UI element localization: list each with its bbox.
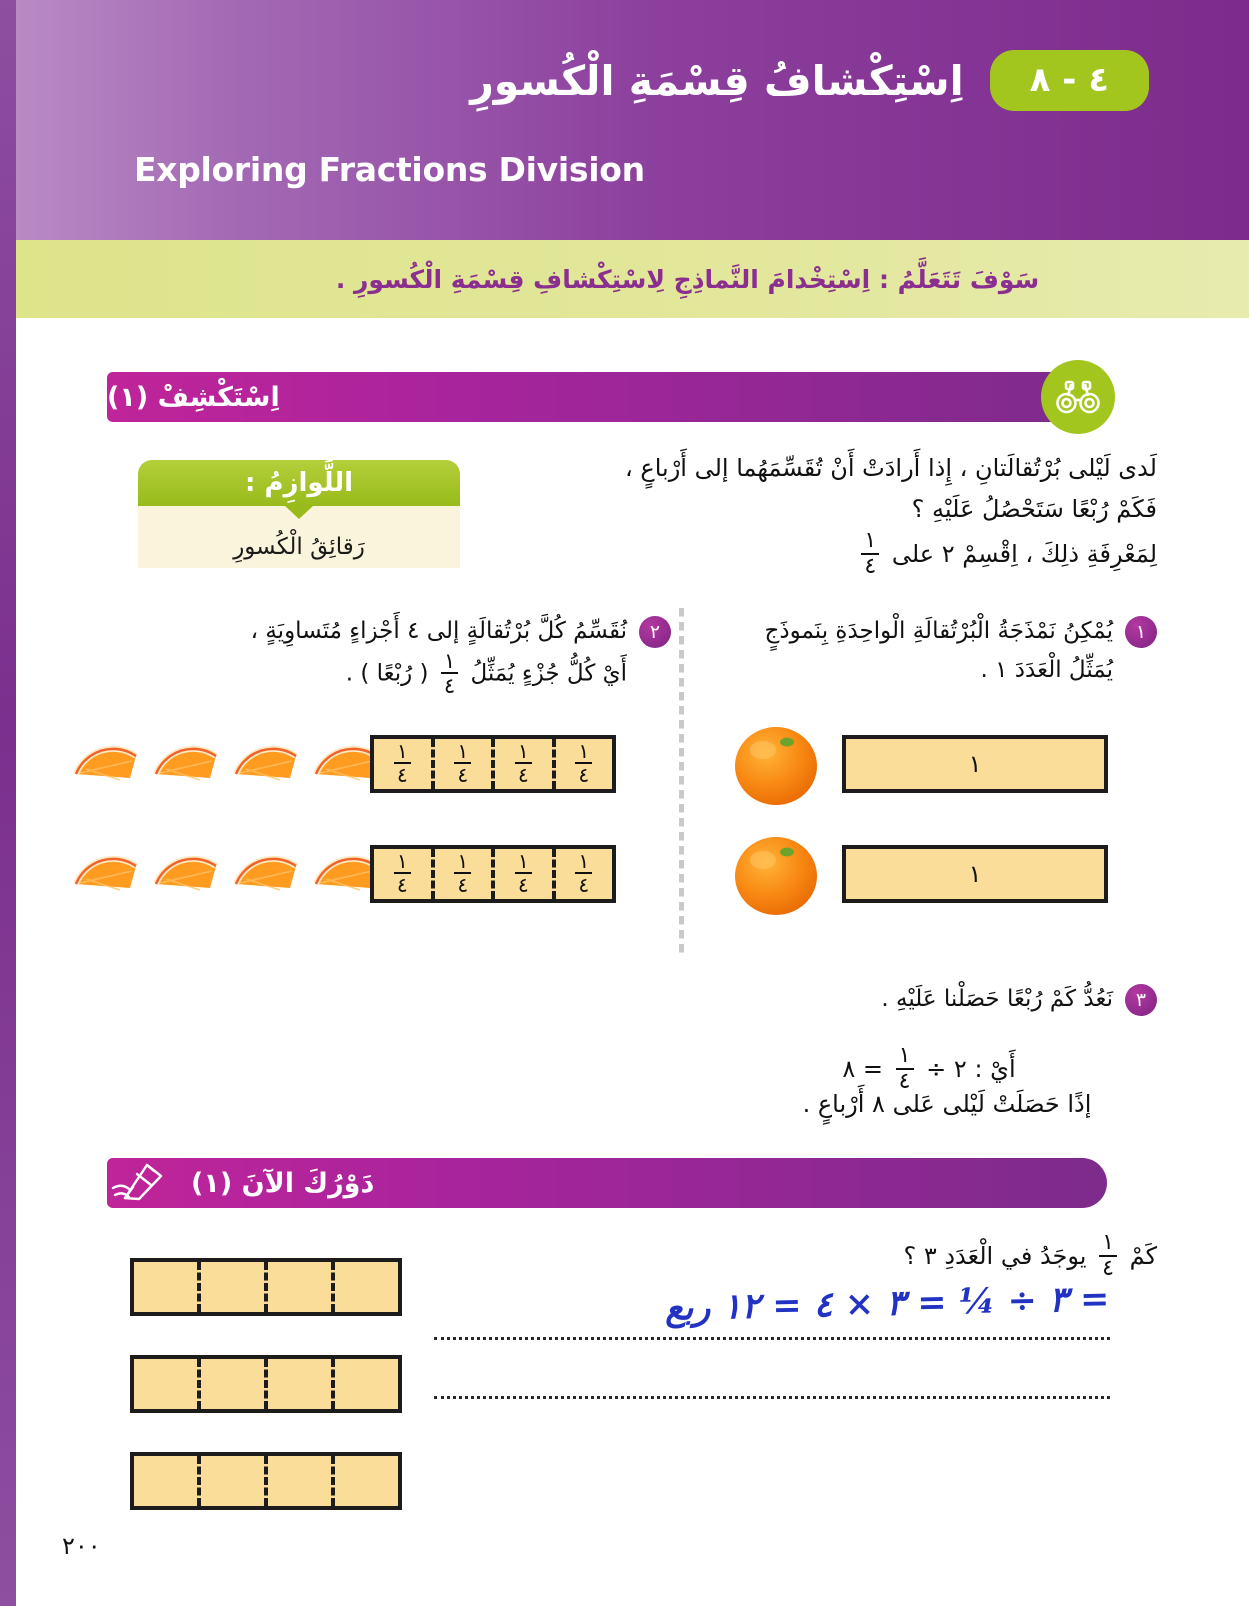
lesson-number-badge: ٤ - ٨ [990, 50, 1149, 111]
orange-fruit-icon [730, 718, 822, 810]
orange-slice-row-1 [70, 728, 382, 790]
step-2-text-part2-prefix: أَيْ كُلُّ جُزْءٍ يُمَثِّلُ [471, 661, 627, 687]
step-1: ١ يُمْكِنُ نَمْذَجَةُ الْبُرْتُقالَةِ ال… [727, 612, 1157, 690]
fraction-cell: ١ ٤ [491, 739, 552, 789]
equation-divide-sign: ÷ [926, 1055, 946, 1083]
orange-slice-icon [150, 838, 222, 900]
answer-fraction-strip-1[interactable] [130, 1258, 402, 1316]
conclusion-text: إذًا حَصَلَتْ لَيْلى عَلى ٨ أَرْباعٍ . [737, 1090, 1157, 1118]
orange-slice-row-2 [70, 838, 382, 900]
cell-fraction: ١ ٤ [515, 851, 532, 895]
fraction-cell: ١ ٤ [374, 739, 431, 789]
problem-fraction-one-fourth: ١ ٤ [861, 530, 879, 578]
objective-text: سَوْفَ تَتَعَلَّمُ : اِسْتِخْدامَ النَّم… [226, 265, 1039, 294]
problem-line-2: فَكَمْ رُبْعًا سَتَحْصُلُ عَلَيْهِ ؟ [577, 489, 1157, 530]
whole-value-box-2: ١ [842, 845, 1108, 903]
empty-fraction-cell[interactable] [264, 1456, 331, 1506]
answer-fraction-strip-2[interactable] [130, 1355, 402, 1413]
division-equation: أَيْ : ٢ ÷ ١ ٤ = ٨ [737, 1046, 1157, 1094]
empty-fraction-cell[interactable] [264, 1262, 331, 1312]
step-3-text: نَعُدُّ كَمْ رُبْعًا حَصَلْنا عَلَيْهِ . [881, 980, 1113, 1019]
handwritten-answer[interactable]: = ٣ ÷ ¼ = ٣ × ٤ = ١٢ ربع [664, 1278, 1109, 1328]
explore-section-banner: اِسْتَكْشِفْ (١) [107, 372, 1107, 422]
fraction-strip-1: ١ ٤ ١ ٤ ١ ٤ ١ ٤ [370, 735, 616, 793]
step-1-badge: ١ [1125, 616, 1157, 648]
answer-line-1[interactable] [434, 1337, 1110, 1340]
explore-banner-label: اِسْتَكْشِفْ (١) [107, 382, 280, 413]
objective-band: سَوْفَ تَتَعَلَّمُ : اِسْتِخْدامَ النَّم… [16, 240, 1249, 318]
materials-notch [284, 505, 314, 519]
orange-slice-icon [70, 838, 142, 900]
equation-dividend: ٢ [954, 1055, 967, 1083]
orange-fruit-icon [730, 828, 822, 920]
lesson-title-english: Exploring Fractions Division [16, 150, 1249, 189]
question-fraction-one-fourth: ١ ٤ [1099, 1232, 1117, 1280]
orange-slice-icon [230, 838, 302, 900]
writing-hand-icon [107, 1162, 169, 1204]
question-suffix: يوجَدُ في الْعَدَدِ ٣ ؟ [903, 1242, 1086, 1270]
your-turn-banner-label: دَوْرُكَ الآنَ (١) [191, 1168, 374, 1199]
orange-slice-icon [70, 728, 142, 790]
fraction-cell: ١ ٤ [431, 849, 492, 899]
question-prefix: كَمْ [1130, 1242, 1157, 1270]
step-2-text-part2-suffix: ( رُبْعًا ) . [346, 661, 429, 687]
cell-fraction: ١ ٤ [515, 741, 532, 785]
step-2: ٢ نُقَسِّمُ كُلَّ بُرْتُقالَةٍ إلى ٤ أَج… [211, 612, 671, 697]
empty-fraction-cell[interactable] [134, 1456, 197, 1506]
step-2-text: نُقَسِّمُ كُلَّ بُرْتُقالَةٍ إلى ٤ أَجْز… [251, 612, 627, 697]
page-number: ٢٠٠ [62, 1532, 101, 1560]
equation-prefix: أَيْ : [974, 1055, 1015, 1083]
empty-fraction-cell[interactable] [134, 1359, 197, 1409]
empty-fraction-cell[interactable] [331, 1456, 398, 1506]
fraction-strip-2: ١ ٤ ١ ٤ ١ ٤ ١ ٤ [370, 845, 616, 903]
orange-slice-icon [230, 728, 302, 790]
cell-fraction: ١ ٤ [575, 851, 592, 895]
empty-fraction-cell[interactable] [197, 1456, 264, 1506]
lesson-title-arabic: اِسْتِكْشافُ قِسْمَةِ الْكُسورِ [470, 57, 963, 105]
cell-fraction: ١ ٤ [454, 851, 471, 895]
step-2-badge: ٢ [639, 616, 671, 648]
cell-fraction: ١ ٤ [394, 851, 411, 895]
column-divider [679, 608, 684, 953]
materials-box: اللَّوازِمُ : رَقائِقُ الْكُسورِ [138, 460, 460, 568]
your-turn-question: كَمْ ١ ٤ يوجَدُ في الْعَدَدِ ٣ ؟ [903, 1233, 1157, 1281]
answer-line-2[interactable] [434, 1396, 1110, 1399]
fraction-cell: ١ ٤ [552, 849, 613, 899]
step-3: ٣ نَعُدُّ كَمْ رُبْعًا حَصَلْنا عَلَيْهِ… [737, 980, 1157, 1019]
empty-fraction-cell[interactable] [331, 1359, 398, 1409]
empty-fraction-cell[interactable] [264, 1359, 331, 1409]
cell-fraction: ١ ٤ [575, 741, 592, 785]
empty-fraction-cell[interactable] [331, 1262, 398, 1312]
orange-slice-icon [150, 728, 222, 790]
problem-line-3: لِمَعْرِفَةِ ذلِكَ ، اِقْسِمْ ٢ على ١ ٤ [577, 531, 1157, 579]
step-1-text: يُمْكِنُ نَمْذَجَةُ الْبُرْتُقالَةِ الْو… [727, 612, 1113, 690]
binoculars-icon [1041, 360, 1115, 434]
fraction-cell: ١ ٤ [552, 739, 613, 789]
whole-value-box-1: ١ [842, 735, 1108, 793]
answer-fraction-strip-3[interactable] [130, 1452, 402, 1510]
problem-statement: لَدى لَيْلى بُرْتُقالَتانِ ، إِذا أَرادَ… [577, 448, 1157, 579]
step-2-fraction-one-fourth: ١ ٤ [441, 650, 458, 696]
equation-result: ٨ [842, 1055, 855, 1083]
lesson-header: ٤ - ٨ اِسْتِكْشافُ قِسْمَةِ الْكُسورِ Ex… [16, 0, 1249, 240]
cell-fraction: ١ ٤ [394, 741, 411, 785]
empty-fraction-cell[interactable] [134, 1262, 197, 1312]
empty-fraction-cell[interactable] [197, 1262, 264, 1312]
page-spine [0, 0, 16, 1606]
materials-heading-label: اللَّوازِمُ : [245, 468, 353, 498]
fraction-cell: ١ ٤ [374, 849, 431, 899]
lesson-title-row: ٤ - ٨ اِسْتِكْشافُ قِسْمَةِ الْكُسورِ [16, 50, 1249, 111]
fraction-cell: ١ ٤ [431, 739, 492, 789]
empty-fraction-cell[interactable] [197, 1359, 264, 1409]
problem-line-3-text: لِمَعْرِفَةِ ذلِكَ ، اِقْسِمْ ٢ على [892, 540, 1157, 568]
problem-line-1: لَدى لَيْلى بُرْتُقالَتانِ ، إِذا أَرادَ… [577, 448, 1157, 489]
your-turn-banner: دَوْرُكَ الآنَ (١) [107, 1158, 1107, 1208]
step-3-badge: ٣ [1125, 984, 1157, 1016]
fraction-cell: ١ ٤ [491, 849, 552, 899]
equation-divisor-fraction: ١ ٤ [896, 1045, 914, 1093]
equation-equals-sign: = [863, 1055, 883, 1083]
cell-fraction: ١ ٤ [454, 741, 471, 785]
step-2-text-part1: نُقَسِّمُ كُلَّ بُرْتُقالَةٍ إلى ٤ أَجْز… [251, 618, 627, 644]
materials-heading: اللَّوازِمُ : [138, 460, 460, 506]
